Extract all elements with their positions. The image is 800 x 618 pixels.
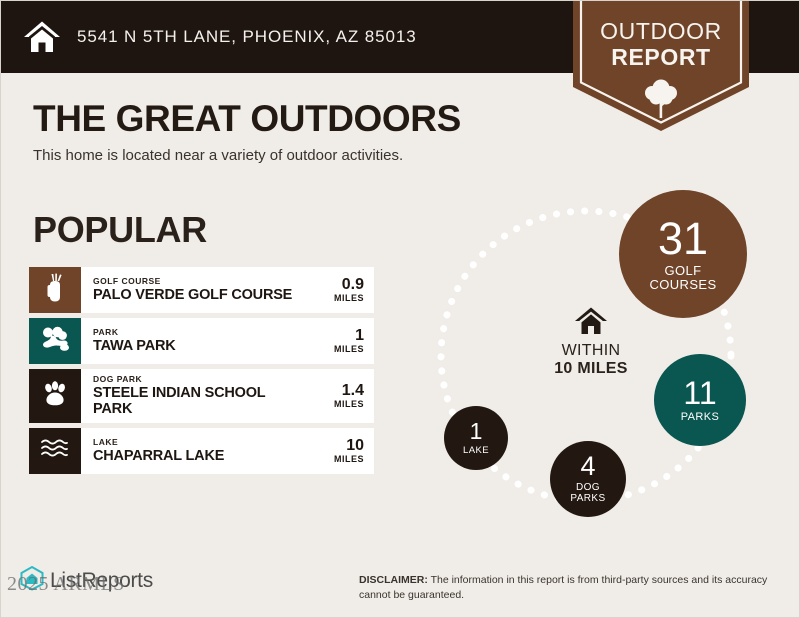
list-item-category: LAKE xyxy=(93,437,224,447)
list-item-icon-tile xyxy=(29,267,81,313)
list-item-icon-tile xyxy=(29,318,81,364)
bubble-label: DOG PARKS xyxy=(570,483,605,505)
list-item-distance: 10 MILES xyxy=(326,438,364,465)
list-item-distance: 1.4 MILES xyxy=(326,383,364,410)
list-item-name: PALO VERDE GOLF COURSE xyxy=(93,288,292,304)
list-item-name: CHAPARRAL LAKE xyxy=(93,449,224,465)
bubble-parks[interactable]: 11 PARKS xyxy=(654,354,746,446)
bubble-golf-courses[interactable]: 31 GOLF COURSES xyxy=(619,190,747,318)
paw-print-icon xyxy=(41,380,69,413)
popular-list: GOLF COURSE PALO VERDE GOLF COURSE 0.9 M… xyxy=(29,267,374,479)
list-item-body: LAKE CHAPARRAL LAKE 10 MILES xyxy=(81,428,374,474)
section-heading-popular: POPULAR xyxy=(33,209,207,251)
list-item[interactable]: PARK TAWA PARK 1 MILES xyxy=(29,318,374,364)
outdoor-report-badge: OUTDOOR REPORT xyxy=(567,1,755,135)
bubble-label: LAKE xyxy=(463,446,489,456)
list-item-body: GOLF COURSE PALO VERDE GOLF COURSE 0.9 M… xyxy=(81,267,374,313)
list-item-name: STEELE INDIAN SCHOOL PARK xyxy=(93,386,283,418)
list-item-distance-value: 0.9 xyxy=(334,277,364,294)
bubble-label: PARKS xyxy=(681,412,719,424)
bubble-value: 1 xyxy=(470,420,483,443)
list-item-icon-tile xyxy=(29,428,81,474)
list-item-icon-tile xyxy=(29,369,81,423)
list-item[interactable]: LAKE CHAPARRAL LAKE 10 MILES xyxy=(29,428,374,474)
list-item-distance: 1 MILES xyxy=(326,328,364,355)
list-item-category: GOLF COURSE xyxy=(93,276,292,286)
bubble-value: 31 xyxy=(658,216,708,261)
list-item-distance-unit: MILES xyxy=(334,293,364,303)
page-subtitle: This home is located near a variety of o… xyxy=(33,147,403,164)
list-item[interactable]: GOLF COURSE PALO VERDE GOLF COURSE 0.9 M… xyxy=(29,267,374,313)
within-10-miles-bubble-chart: WITHIN 10 MILES 31 GOLF COURSES 11 PARKS… xyxy=(416,176,791,531)
list-item-body: PARK TAWA PARK 1 MILES xyxy=(81,318,374,364)
list-item-distance-value: 10 xyxy=(334,438,364,455)
list-item-distance-value: 1.4 xyxy=(334,383,364,400)
list-item-texts: PARK TAWA PARK xyxy=(93,327,176,354)
list-item-distance-unit: MILES xyxy=(334,454,364,464)
header-address-group: 5541 N 5TH LANE, PHOENIX, AZ 85013 xyxy=(23,1,417,73)
tree-icon xyxy=(644,77,678,119)
outdoor-report-page: 5541 N 5TH LANE, PHOENIX, AZ 85013 OUTDO… xyxy=(0,0,800,618)
list-item-distance: 0.9 MILES xyxy=(326,277,364,304)
list-item-texts: GOLF COURSE PALO VERDE GOLF COURSE xyxy=(93,276,292,303)
bubble-value: 4 xyxy=(580,453,595,480)
mls-watermark: 2025 ARMLS xyxy=(7,573,125,596)
chart-center-label: WITHIN 10 MILES xyxy=(531,306,651,379)
list-item-distance-value: 1 xyxy=(334,328,364,345)
bubble-label: GOLF COURSES xyxy=(649,264,716,292)
home-icon xyxy=(531,306,651,336)
disclaimer: DISCLAIMER: The information in this repo… xyxy=(359,573,779,603)
chart-center-line-1: WITHIN xyxy=(531,342,651,360)
water-waves-icon xyxy=(40,437,70,466)
property-address: 5541 N 5TH LANE, PHOENIX, AZ 85013 xyxy=(77,27,417,47)
bubble-value: 11 xyxy=(683,377,716,409)
list-item-category: DOG PARK xyxy=(93,374,283,384)
park-tree-icon xyxy=(40,326,70,357)
list-item-texts: DOG PARK STEELE INDIAN SCHOOL PARK xyxy=(93,374,283,417)
chart-center-line-2: 10 MILES xyxy=(531,360,651,378)
list-item-distance-unit: MILES xyxy=(334,399,364,409)
disclaimer-label: DISCLAIMER: xyxy=(359,574,428,586)
list-item-texts: LAKE CHAPARRAL LAKE xyxy=(93,437,224,464)
list-item-name: TAWA PARK xyxy=(93,339,176,355)
home-icon xyxy=(23,20,61,54)
list-item-body: DOG PARK STEELE INDIAN SCHOOL PARK 1.4 M… xyxy=(81,369,374,423)
bubble-dog-parks[interactable]: 4 DOG PARKS xyxy=(550,441,626,517)
bubble-lake[interactable]: 1 LAKE xyxy=(444,406,508,470)
golf-bag-icon xyxy=(42,273,68,308)
list-item-distance-unit: MILES xyxy=(334,344,364,354)
page-title: THE GREAT OUTDOORS xyxy=(33,98,461,140)
list-item[interactable]: DOG PARK STEELE INDIAN SCHOOL PARK 1.4 M… xyxy=(29,369,374,423)
bubble-label-line-1: GOLF xyxy=(665,263,702,278)
list-item-category: PARK xyxy=(93,327,176,337)
bubble-label-line-1: DOG xyxy=(576,482,600,493)
bubble-label-line-2: COURSES xyxy=(649,277,716,292)
bubble-label-line-2: PARKS xyxy=(570,493,605,504)
